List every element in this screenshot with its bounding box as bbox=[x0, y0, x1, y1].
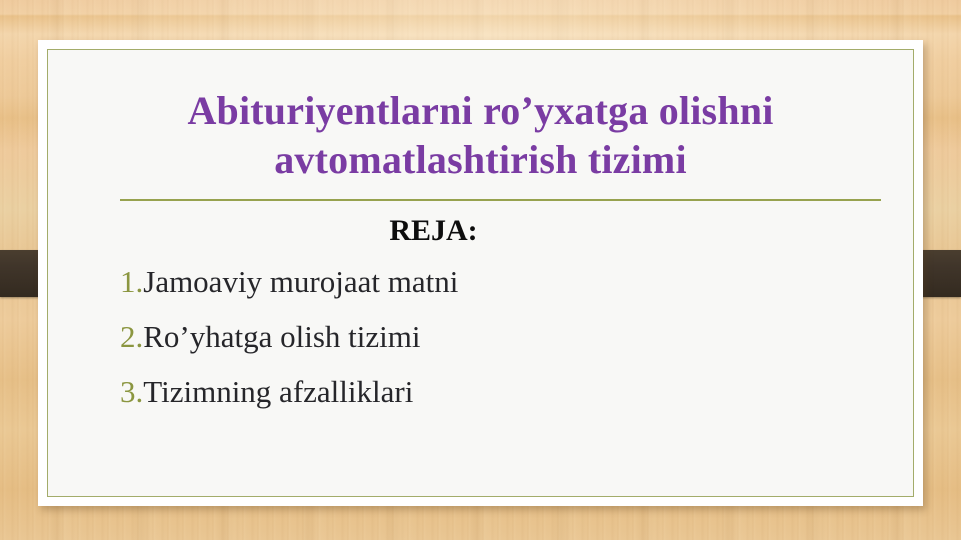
title-divider-rule bbox=[120, 199, 881, 201]
list-item: 3.Tizimning afzalliklari bbox=[120, 364, 877, 419]
plan-list: 1.Jamoaviy murojaat matni 2.Ro’yhatga ol… bbox=[120, 254, 877, 420]
list-item: 1.Jamoaviy murojaat matni bbox=[120, 254, 877, 309]
slide-title-line-1: Abituriyentlarni ro’yxatga olishni bbox=[187, 88, 773, 133]
list-item-label: Jamoaviy murojaat matni bbox=[143, 264, 458, 299]
slide-body-block: REJA: 1.Jamoaviy murojaat matni 2.Ro’yha… bbox=[120, 212, 877, 419]
list-item-number: 1. bbox=[120, 264, 143, 299]
slide-title-line-2: avtomatlashtirish tizimi bbox=[274, 137, 687, 182]
list-item-label: Tizimning afzalliklari bbox=[143, 374, 413, 409]
list-item: 2.Ro’yhatga olish tizimi bbox=[120, 309, 877, 364]
section-heading: REJA: bbox=[120, 212, 877, 250]
slide-card-inner: Abituriyentlarni ro’yxatga olishniavtoma… bbox=[47, 49, 914, 497]
list-item-label: Ro’yhatga olish tizimi bbox=[143, 319, 420, 354]
slide-title: Abituriyentlarni ro’yxatga olishniavtoma… bbox=[84, 87, 877, 185]
list-item-number: 2. bbox=[120, 319, 143, 354]
list-item-number: 3. bbox=[120, 374, 143, 409]
slide-title-block: Abituriyentlarni ro’yxatga olishniavtoma… bbox=[84, 87, 877, 185]
slide-card: Abituriyentlarni ro’yxatga olishniavtoma… bbox=[38, 40, 923, 506]
presentation-slide: Abituriyentlarni ro’yxatga olishniavtoma… bbox=[0, 0, 961, 540]
